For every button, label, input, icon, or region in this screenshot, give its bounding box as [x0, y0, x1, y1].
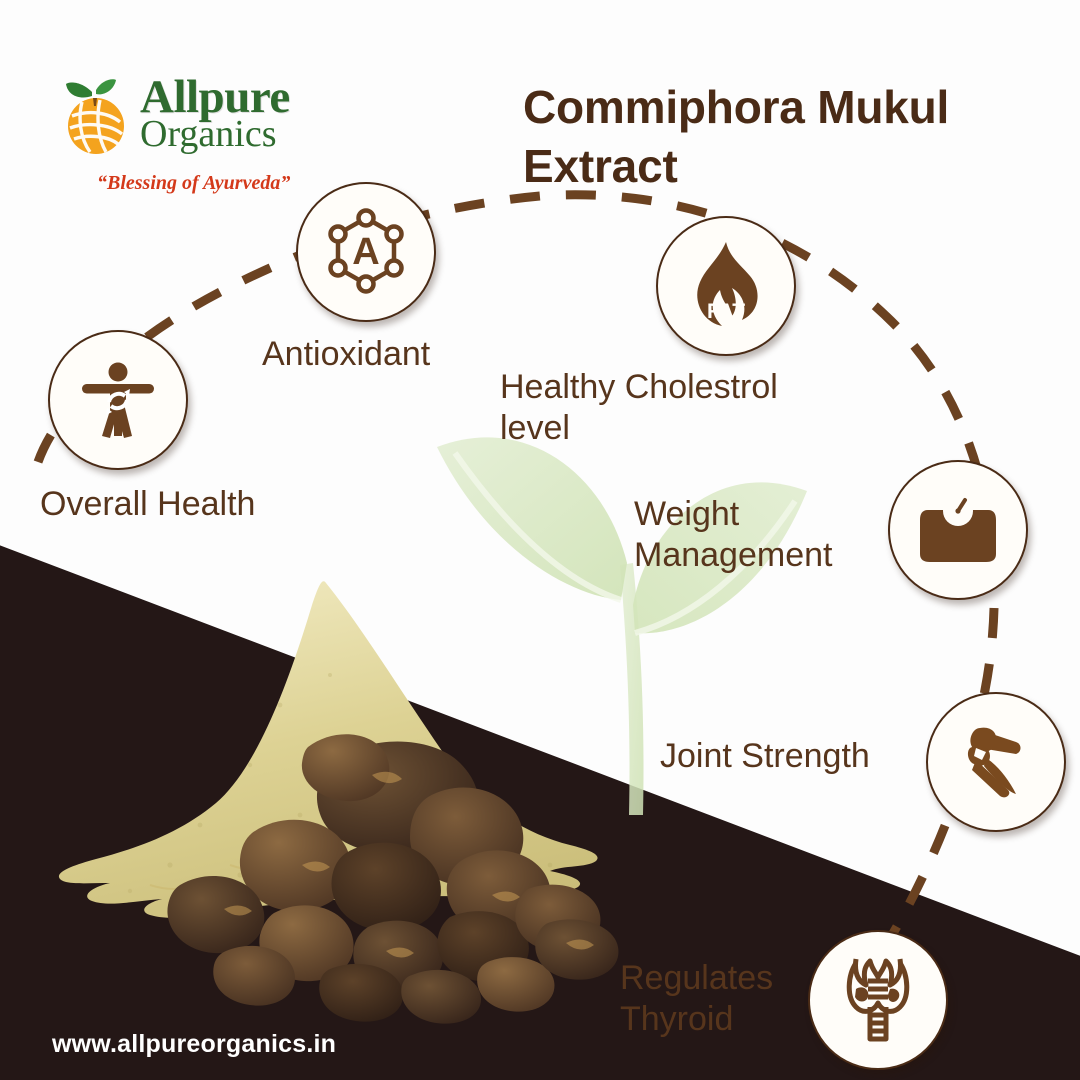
infographic-canvas: Allpure Organics “Blessing of Ayurveda” …	[0, 0, 1080, 1080]
brand-tagline: “Blessing of Ayurveda”	[97, 172, 290, 195]
benefit-label-antioxidant: Antioxidant	[262, 334, 430, 375]
brand-name-line2: Organics	[140, 117, 290, 152]
benefit-label-healthy-cholesterol: Healthy Cholestrol level	[500, 367, 778, 450]
weight-scale-icon	[912, 484, 1004, 576]
benefit-bubble-healthy-cholesterol[interactable]: FAT	[656, 216, 796, 356]
molecule-hexagon-a-icon: A	[320, 206, 412, 298]
benefit-bubble-regulates-thyroid[interactable]	[808, 930, 948, 1070]
benefit-bubble-joint-strength[interactable]	[926, 692, 1066, 832]
benefit-bubble-weight-management[interactable]	[888, 460, 1028, 600]
benefit-bubble-overall-health[interactable]	[48, 330, 188, 470]
benefit-label-overall-health: Overall Health	[40, 484, 255, 525]
benefit-label-regulates-thyroid: Regulates Thyroid	[620, 958, 773, 1041]
brand-wordmark: Allpure Organics	[140, 76, 290, 152]
orange-fruit-icon	[62, 76, 136, 158]
benefit-bubble-antioxidant[interactable]: A	[296, 182, 436, 322]
page-title: Commiphora Mukul Extract	[523, 78, 1023, 196]
product-photo-guggul	[30, 565, 690, 1025]
svg-text:A: A	[352, 231, 379, 273]
footer-website-url[interactable]: www.allpureorganics.in	[52, 1030, 336, 1059]
benefit-label-weight-management: Weight Management	[634, 494, 832, 577]
person-wellness-icon	[72, 354, 164, 446]
svg-text:FAT: FAT	[707, 300, 745, 323]
knee-joint-icon	[950, 716, 1042, 808]
benefit-label-joint-strength: Joint Strength	[660, 736, 870, 777]
brand-logo[interactable]: Allpure Organics “Blessing of Ayurveda”	[62, 72, 342, 197]
flame-fat-icon: FAT	[678, 238, 774, 334]
thyroid-gland-icon	[832, 951, 924, 1049]
